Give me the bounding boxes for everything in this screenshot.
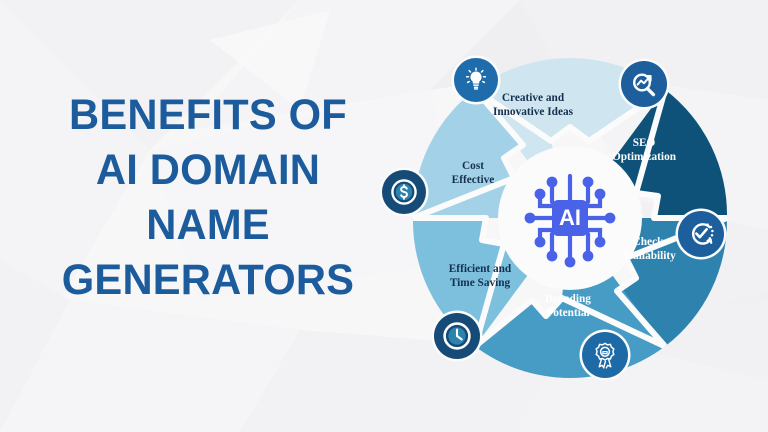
- ai-chip-icon: AI: [514, 162, 626, 274]
- lightbulb-icon[interactable]: [454, 58, 498, 102]
- award-ribbon-icon[interactable]: [582, 332, 628, 378]
- seo-magnifier-arrow-icon[interactable]: [621, 61, 667, 107]
- ai-chip-label: AI: [559, 205, 581, 230]
- page-title-line-2: AI DOMAIN: [30, 143, 387, 198]
- check-circle-clock-icon[interactable]: [678, 211, 724, 257]
- page-title-line-4: GENERATORS: [30, 253, 387, 308]
- clock-icon[interactable]: [434, 313, 480, 359]
- page-title-line-1: BENEFITS OF: [30, 88, 387, 143]
- benefits-cycle-infographic: AI Creative and Innovative Ideas SEO Opt…: [386, 48, 754, 396]
- page-title: BENEFITS OF AI DOMAIN NAME GENERATORS: [24, 88, 392, 308]
- page-title-line-3: NAME: [30, 198, 387, 253]
